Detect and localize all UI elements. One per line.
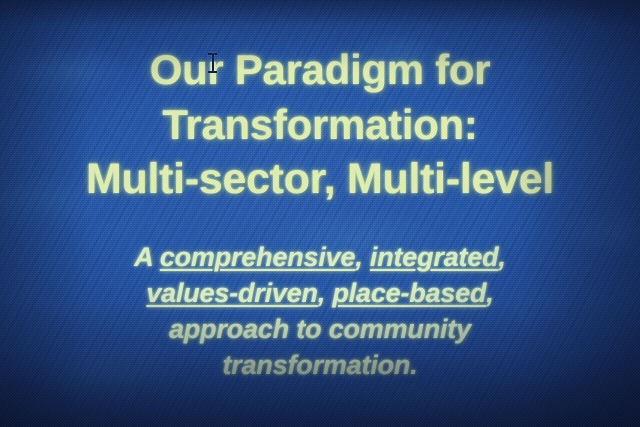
- ibeam-cap-bottom: [208, 71, 217, 73]
- projected-slide-photo: Our Paradigm for Transformation: Multi-s…: [0, 0, 640, 427]
- ibeam-stem: [212, 54, 214, 72]
- photo-vignette: [0, 0, 640, 427]
- text-ibeam-cursor-icon: [208, 52, 217, 74]
